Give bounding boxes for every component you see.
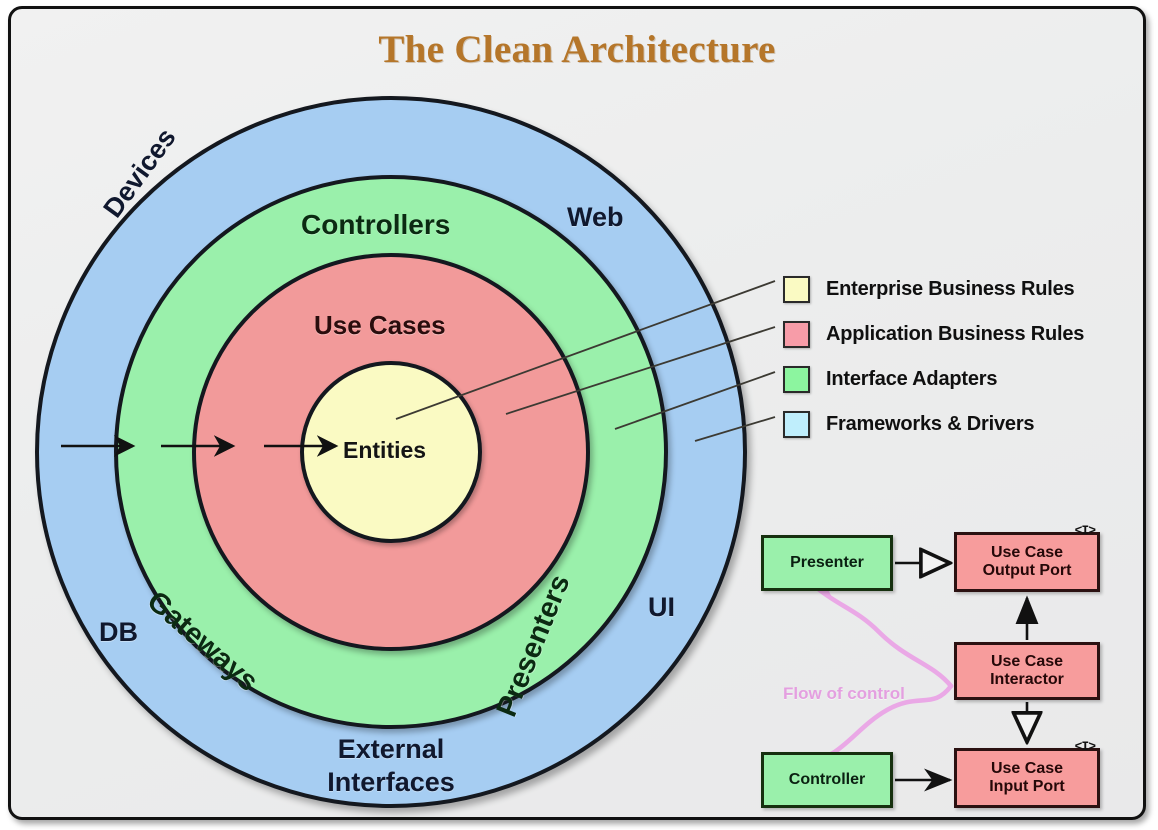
interface-tag-icon: <I>	[1075, 740, 1095, 755]
external-line-2: Interfaces	[327, 767, 455, 797]
legend-label-frameworks: Frameworks & Drivers	[826, 413, 1034, 436]
legend-swatch-interface-adapters	[783, 366, 810, 393]
flow-of-control-diagram: Use Case Output Port (uses) --> Use Case…	[747, 514, 1146, 819]
legend: Enterprise Business Rules Application Bu…	[783, 267, 1145, 447]
ring-label-controllers: Controllers	[301, 209, 450, 241]
legend-swatch-frameworks	[783, 411, 810, 438]
legend-item-frameworks: Frameworks & Drivers	[783, 402, 1145, 447]
output-port-line-1: Use Case	[991, 544, 1063, 561]
ring-label-external-interfaces: External Interfaces	[291, 733, 491, 800]
external-line-1: External	[338, 734, 445, 764]
legend-label-application: Application Business Rules	[826, 323, 1084, 346]
page-title: The Clean Architecture	[11, 27, 1143, 72]
uml-box-controller[interactable]: Controller	[761, 752, 893, 808]
legend-item-application: Application Business Rules	[783, 312, 1145, 357]
legend-item-enterprise: Enterprise Business Rules	[783, 267, 1145, 312]
ring-label-entities: Entities	[343, 437, 426, 464]
uml-box-interactor-label: Use Case Interactor	[990, 653, 1064, 690]
input-port-line-1: Use Case	[991, 760, 1063, 777]
flow-of-control-label: Flow of control	[783, 684, 905, 704]
input-port-line-2: Input Port	[989, 778, 1065, 795]
uml-box-use-case-output-port[interactable]: <I> Use Case Output Port	[954, 532, 1100, 592]
legend-label-interface-adapters: Interface Adapters	[826, 368, 997, 391]
diagram-frame: The Clean Architecture Devices Web DB UI…	[8, 6, 1146, 820]
ring-label-web: Web	[567, 202, 624, 233]
clean-architecture-diagram: The Clean Architecture Devices Web DB UI…	[0, 0, 1158, 830]
uml-box-presenter[interactable]: Presenter	[761, 535, 893, 591]
legend-swatch-application	[783, 321, 810, 348]
ring-label-ui: UI	[648, 592, 675, 623]
uml-box-use-case-input-port[interactable]: <I> Use Case Input Port	[954, 748, 1100, 808]
legend-swatch-enterprise	[783, 276, 810, 303]
legend-item-interface-adapters: Interface Adapters	[783, 357, 1145, 402]
interactor-line-2: Interactor	[990, 671, 1064, 688]
uml-box-output-port-label: Use Case Output Port	[983, 544, 1072, 581]
interactor-line-1: Use Case	[991, 653, 1063, 670]
interface-tag-icon: <I>	[1075, 524, 1095, 539]
ring-label-db: DB	[99, 617, 138, 648]
uml-box-use-case-interactor[interactable]: Use Case Interactor	[954, 642, 1100, 700]
uml-box-controller-label: Controller	[789, 771, 865, 789]
flow-of-control-curve-upper	[817, 588, 951, 686]
output-port-line-2: Output Port	[983, 562, 1072, 579]
uml-box-input-port-label: Use Case Input Port	[989, 760, 1065, 797]
legend-label-enterprise: Enterprise Business Rules	[826, 278, 1074, 301]
ring-label-use-cases: Use Cases	[314, 310, 446, 341]
uml-box-presenter-label: Presenter	[790, 554, 864, 572]
